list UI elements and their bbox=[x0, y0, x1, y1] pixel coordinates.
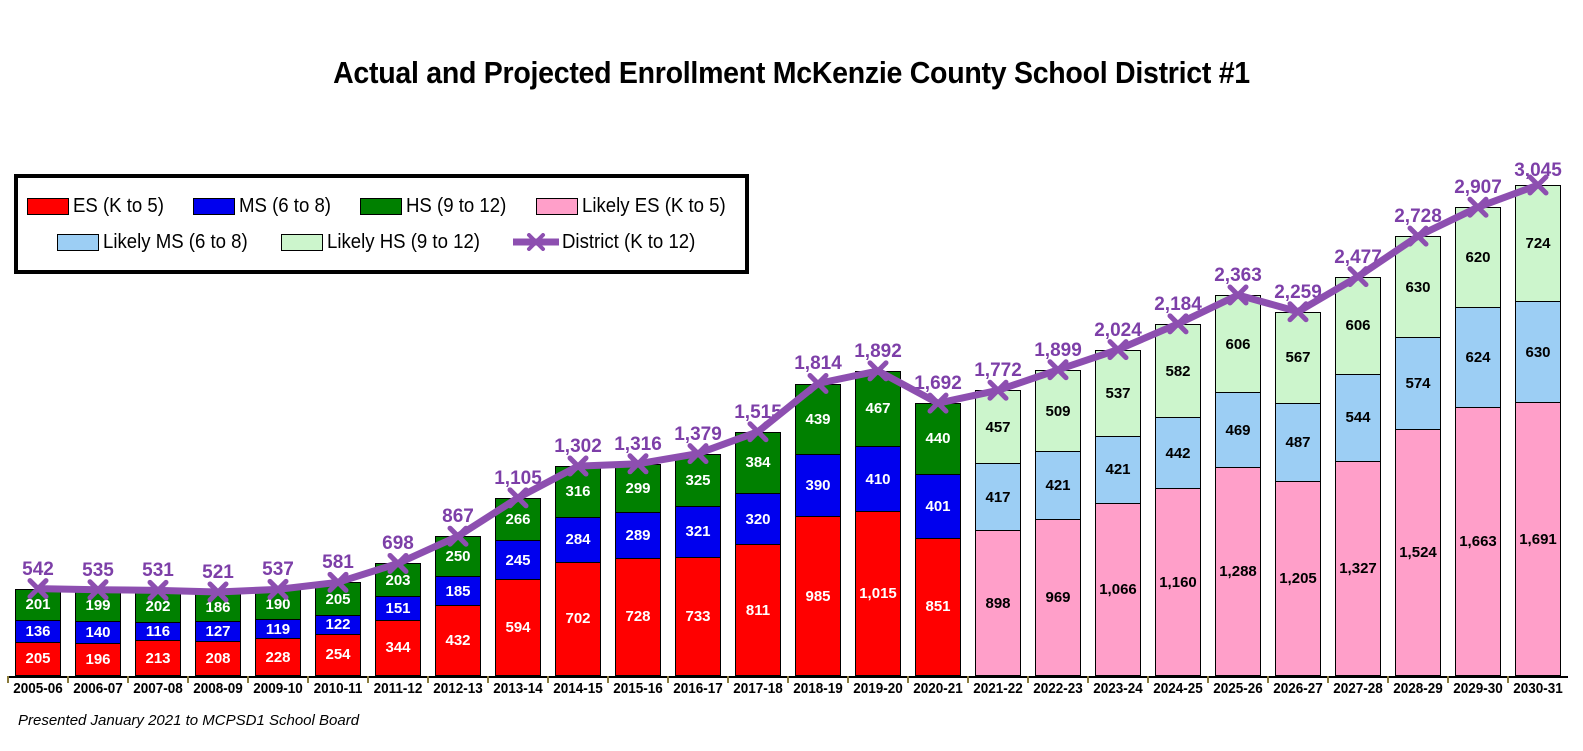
bar-slot: 1,8924674101,015 bbox=[848, 160, 908, 676]
legend-line-marker-icon bbox=[513, 233, 559, 251]
bar-segment-hs: 190 bbox=[256, 590, 300, 620]
legend-label-es: ES (K to 5) bbox=[73, 195, 164, 218]
stacked-bar[interactable]: 4674101,015 bbox=[855, 371, 901, 676]
bar-segment-hs: 205 bbox=[316, 583, 360, 615]
bar-segment-es: 851 bbox=[916, 539, 960, 675]
bar-total-label: 2,024 bbox=[1088, 320, 1148, 342]
x-axis-label: 2008-09 bbox=[190, 681, 246, 703]
bar-segment-hs: 440 bbox=[916, 404, 960, 474]
bar-segment-lms: 544 bbox=[1336, 375, 1380, 462]
x-axis-label: 2007-08 bbox=[130, 681, 186, 703]
bar-segment-lms: 421 bbox=[1096, 437, 1140, 504]
bar-slot: 1,692440401851 bbox=[908, 160, 968, 676]
bar-segment-ms: 390 bbox=[796, 455, 840, 517]
stacked-bar[interactable]: 299289728 bbox=[615, 464, 661, 676]
stacked-bar[interactable]: 5674871,205 bbox=[1275, 312, 1321, 676]
bar-segment-ms: 185 bbox=[436, 577, 480, 606]
bar-segment-hs: 439 bbox=[796, 385, 840, 455]
bar-segment-les: 1,066 bbox=[1096, 504, 1140, 675]
bar-segment-hs: 266 bbox=[496, 499, 540, 541]
bar-segment-hs: 186 bbox=[196, 593, 240, 622]
stacked-bar[interactable]: 7246301,691 bbox=[1515, 185, 1561, 676]
legend-label-hs: HS (9 to 12) bbox=[406, 195, 506, 218]
x-axis-label: 2024-25 bbox=[1150, 681, 1206, 703]
bar-total-label: 1,892 bbox=[848, 341, 908, 363]
bar-segment-lms: 442 bbox=[1156, 418, 1200, 489]
bar-segment-lhs: 620 bbox=[1456, 208, 1500, 308]
bar-segment-lhs: 606 bbox=[1216, 296, 1260, 393]
bar-total-label: 521 bbox=[188, 562, 248, 584]
bar-segment-es: 254 bbox=[316, 635, 360, 675]
x-axis-label: 2005-06 bbox=[10, 681, 66, 703]
bar-total-label: 3,045 bbox=[1508, 160, 1568, 182]
bar-segment-les: 969 bbox=[1036, 520, 1080, 675]
stacked-bar[interactable]: 316284702 bbox=[555, 466, 601, 676]
bar-total-label: 535 bbox=[68, 560, 128, 582]
bar-total-label: 537 bbox=[248, 559, 308, 581]
x-axis-label: 2028-29 bbox=[1390, 681, 1446, 703]
bar-segment-ms: 401 bbox=[916, 475, 960, 539]
x-axis-label: 2021-22 bbox=[970, 681, 1026, 703]
bar-segment-es: 344 bbox=[376, 621, 420, 675]
stacked-bar[interactable]: 6206241,663 bbox=[1455, 207, 1501, 676]
bar-slot: 2,0245374211,066 bbox=[1088, 160, 1148, 676]
stacked-bar[interactable]: 5374211,066 bbox=[1095, 350, 1141, 676]
bar-segment-es: 702 bbox=[556, 563, 600, 675]
bar-segment-ms: 136 bbox=[16, 621, 60, 642]
bar-segment-es: 728 bbox=[616, 559, 660, 675]
stacked-bar[interactable]: 6305741,524 bbox=[1395, 236, 1441, 676]
bar-total-label: 1,899 bbox=[1028, 340, 1088, 362]
bar-segment-lhs: 582 bbox=[1156, 325, 1200, 418]
stacked-bar[interactable]: 199140196 bbox=[75, 590, 121, 676]
bar-segment-les: 1,205 bbox=[1276, 482, 1320, 675]
bar-segment-es: 985 bbox=[796, 517, 840, 675]
x-axis-label: 2027-28 bbox=[1330, 681, 1386, 703]
bar-total-label: 2,184 bbox=[1148, 294, 1208, 316]
bar-total-label: 2,477 bbox=[1328, 247, 1388, 269]
bar-segment-hs: 199 bbox=[76, 591, 120, 622]
bar-segment-ms: 140 bbox=[76, 622, 120, 644]
bar-segment-lhs: 457 bbox=[976, 391, 1020, 464]
bar-segment-es: 811 bbox=[736, 545, 780, 675]
x-axis bbox=[8, 676, 1568, 677]
legend-label-district: District (K to 12) bbox=[562, 231, 695, 254]
x-axis-label: 2006-07 bbox=[70, 681, 126, 703]
bar-segment-ms: 119 bbox=[256, 620, 300, 639]
x-axis-label: 2019-20 bbox=[850, 681, 906, 703]
bar-segment-ms: 289 bbox=[616, 513, 660, 559]
legend-swatch-likely-ms-icon bbox=[57, 234, 99, 251]
bar-segment-les: 1,327 bbox=[1336, 462, 1380, 675]
bar-segment-lms: 417 bbox=[976, 464, 1020, 531]
bar-segment-ms: 116 bbox=[136, 623, 180, 641]
stacked-bar[interactable]: 201136205 bbox=[15, 589, 61, 676]
legend-item-es[interactable]: ES (K to 5) bbox=[27, 195, 171, 218]
bar-total-label: 1,772 bbox=[968, 360, 1028, 382]
bar-total-label: 1,302 bbox=[548, 436, 608, 458]
stacked-bar[interactable]: 440401851 bbox=[915, 403, 961, 676]
x-axis-labels: 2005-062006-072007-082008-092009-102010-… bbox=[8, 681, 1568, 703]
stacked-bar[interactable]: 384320811 bbox=[735, 432, 781, 676]
bar-segment-es: 733 bbox=[676, 558, 720, 675]
bar-segment-hs: 325 bbox=[676, 455, 720, 507]
bar-slot: 2,4776065441,327 bbox=[1328, 160, 1388, 676]
bar-segment-es: 208 bbox=[196, 642, 240, 675]
stacked-bar[interactable]: 202116213 bbox=[135, 590, 181, 676]
bar-total-label: 2,728 bbox=[1388, 206, 1448, 228]
x-axis-label: 2026-27 bbox=[1270, 681, 1326, 703]
x-axis-label: 2014-15 bbox=[550, 681, 606, 703]
bar-segment-les: 1,691 bbox=[1516, 403, 1560, 675]
stacked-bar[interactable]: 6064691,288 bbox=[1215, 295, 1261, 676]
bar-segment-lhs: 630 bbox=[1396, 237, 1440, 338]
bar-segment-lhs: 567 bbox=[1276, 313, 1320, 404]
legend-item-hs[interactable]: HS (9 to 12) bbox=[360, 195, 514, 218]
x-axis-label: 2016-17 bbox=[670, 681, 726, 703]
bar-segment-es: 213 bbox=[136, 641, 180, 675]
stacked-bar[interactable]: 6065441,327 bbox=[1335, 277, 1381, 676]
legend-item-likely-ms[interactable]: Likely MS (6 to 8) bbox=[57, 231, 259, 254]
bar-segment-les: 1,524 bbox=[1396, 430, 1440, 675]
bar-segment-hs: 299 bbox=[616, 465, 660, 513]
bar-segment-ms: 151 bbox=[376, 597, 420, 621]
bar-segment-hs: 384 bbox=[736, 433, 780, 494]
bar-segment-es: 205 bbox=[16, 643, 60, 675]
bar-segment-lhs: 724 bbox=[1516, 186, 1560, 302]
bar-slot: 1,899509421969 bbox=[1028, 160, 1088, 676]
bar-segment-lms: 487 bbox=[1276, 404, 1320, 482]
x-axis-label: 2017-18 bbox=[730, 681, 786, 703]
bar-segment-lms: 469 bbox=[1216, 393, 1260, 468]
stacked-bar[interactable]: 5824421,160 bbox=[1155, 324, 1201, 676]
bar-segment-lms: 630 bbox=[1516, 302, 1560, 403]
bar-segment-lms: 624 bbox=[1456, 308, 1500, 408]
bar-total-label: 1,105 bbox=[488, 468, 548, 490]
stacked-bar[interactable]: 203151344 bbox=[375, 563, 421, 676]
chart-page: Actual and Projected Enrollment McKenzie… bbox=[0, 0, 1583, 751]
bar-segment-ms: 410 bbox=[856, 447, 900, 513]
x-axis-label: 2009-10 bbox=[250, 681, 306, 703]
bar-segment-hs: 202 bbox=[136, 591, 180, 623]
bar-total-label: 1,515 bbox=[728, 402, 788, 424]
x-axis-label: 2030-31 bbox=[1510, 681, 1566, 703]
bar-segment-es: 228 bbox=[256, 639, 300, 675]
bar-total-label: 2,363 bbox=[1208, 265, 1268, 287]
legend-label-likely-es: Likely ES (K to 5) bbox=[582, 195, 726, 218]
x-axis-label: 2018-19 bbox=[790, 681, 846, 703]
bar-slot: 3,0457246301,691 bbox=[1508, 160, 1568, 676]
bar-segment-les: 1,663 bbox=[1456, 408, 1500, 675]
x-axis-label: 2022-23 bbox=[1030, 681, 1086, 703]
bar-total-label: 542 bbox=[8, 559, 68, 581]
bar-segment-lhs: 509 bbox=[1036, 371, 1080, 453]
chart-legend: ES (K to 5) MS (6 to 8) HS (9 to 12) Lik… bbox=[14, 174, 749, 274]
x-axis-label: 2013-14 bbox=[490, 681, 546, 703]
legend-item-likely-es[interactable]: Likely ES (K to 5) bbox=[536, 195, 737, 218]
bar-slot: 1,814439390985 bbox=[788, 160, 848, 676]
x-axis-label: 2011-12 bbox=[370, 681, 426, 703]
bar-segment-hs: 203 bbox=[376, 564, 420, 596]
x-axis-label: 2029-30 bbox=[1450, 681, 1506, 703]
stacked-bar[interactable]: 325321733 bbox=[675, 454, 721, 676]
x-axis-label: 2023-24 bbox=[1090, 681, 1146, 703]
bar-segment-ms: 122 bbox=[316, 616, 360, 635]
bar-segment-lms: 574 bbox=[1396, 338, 1440, 430]
bar-slot: 1,772457417898 bbox=[968, 160, 1028, 676]
bar-slot: 2,7286305741,524 bbox=[1388, 160, 1448, 676]
bar-total-label: 1,379 bbox=[668, 424, 728, 446]
x-axis-label: 2012-13 bbox=[430, 681, 486, 703]
bar-segment-hs: 467 bbox=[856, 372, 900, 447]
legend-swatch-es-icon bbox=[27, 198, 69, 215]
stacked-bar[interactable]: 439390985 bbox=[795, 384, 841, 677]
bar-segment-lhs: 537 bbox=[1096, 351, 1140, 437]
bar-segment-hs: 201 bbox=[16, 590, 60, 622]
bar-total-label: 581 bbox=[308, 552, 368, 574]
bar-segment-es: 594 bbox=[496, 580, 540, 675]
legend-item-ms[interactable]: MS (6 to 8) bbox=[193, 195, 338, 218]
footnote: Presented January 2021 to MCPSD1 School … bbox=[18, 712, 359, 729]
bar-total-label: 2,907 bbox=[1448, 177, 1508, 199]
stacked-bar[interactable]: 250185432 bbox=[435, 536, 481, 676]
stacked-bar[interactable]: 266245594 bbox=[495, 498, 541, 676]
bar-segment-lhs: 606 bbox=[1336, 278, 1380, 375]
x-axis-label: 2010-11 bbox=[310, 681, 366, 703]
bar-total-label: 867 bbox=[428, 506, 488, 528]
legend-row-2: Likely MS (6 to 8) Likely HS (9 to 12) bbox=[18, 224, 745, 260]
bar-slot: 2,2595674871,205 bbox=[1268, 160, 1328, 676]
bar-slot: 2,1845824421,160 bbox=[1148, 160, 1208, 676]
legend-item-likely-hs[interactable]: Likely HS (9 to 12) bbox=[281, 231, 492, 254]
bar-segment-ms: 320 bbox=[736, 494, 780, 545]
page-title: Actual and Projected Enrollment McKenzie… bbox=[63, 55, 1519, 91]
legend-label-likely-ms: Likely MS (6 to 8) bbox=[103, 231, 248, 254]
legend-label-ms: MS (6 to 8) bbox=[239, 195, 331, 218]
bar-segment-es: 432 bbox=[436, 606, 480, 675]
bar-segment-hs: 316 bbox=[556, 467, 600, 517]
legend-item-district[interactable]: District (K to 12) bbox=[513, 231, 705, 254]
bar-total-label: 698 bbox=[368, 533, 428, 555]
stacked-bar[interactable]: 509421969 bbox=[1035, 370, 1081, 676]
bar-segment-ms: 321 bbox=[676, 507, 720, 558]
legend-label-likely-hs: Likely HS (9 to 12) bbox=[327, 231, 480, 254]
bar-segment-les: 1,160 bbox=[1156, 489, 1200, 675]
x-axis-label: 2025-26 bbox=[1210, 681, 1266, 703]
bar-segment-es: 196 bbox=[76, 644, 120, 675]
bar-slot: 2,3636064691,288 bbox=[1208, 160, 1268, 676]
legend-swatch-hs-icon bbox=[360, 198, 402, 215]
bar-segment-es: 1,015 bbox=[856, 512, 900, 675]
stacked-bar[interactable]: 457417898 bbox=[975, 390, 1021, 676]
stacked-bar[interactable]: 186127208 bbox=[195, 592, 241, 676]
legend-swatch-likely-es-icon bbox=[536, 198, 578, 215]
bar-segment-hs: 250 bbox=[436, 537, 480, 577]
legend-swatch-likely-hs-icon bbox=[281, 234, 323, 251]
x-axis-label: 2015-16 bbox=[610, 681, 666, 703]
stacked-bar[interactable]: 205122254 bbox=[315, 582, 361, 676]
bar-slot: 2,9076206241,663 bbox=[1448, 160, 1508, 676]
bar-segment-ms: 245 bbox=[496, 541, 540, 580]
bar-segment-les: 898 bbox=[976, 531, 1020, 675]
bar-segment-ms: 284 bbox=[556, 518, 600, 563]
bar-total-label: 2,259 bbox=[1268, 282, 1328, 304]
bar-total-label: 1,692 bbox=[908, 373, 968, 395]
x-axis-label: 2020-21 bbox=[910, 681, 966, 703]
stacked-bar[interactable]: 190119228 bbox=[255, 589, 301, 676]
legend-row-1: ES (K to 5) MS (6 to 8) HS (9 to 12) Lik… bbox=[18, 188, 745, 224]
bar-segment-ms: 127 bbox=[196, 622, 240, 642]
bar-total-label: 1,316 bbox=[608, 434, 668, 456]
bar-segment-lms: 421 bbox=[1036, 452, 1080, 519]
bar-total-label: 531 bbox=[128, 560, 188, 582]
legend-swatch-ms-icon bbox=[193, 198, 235, 215]
bar-total-label: 1,814 bbox=[788, 353, 848, 375]
bar-segment-les: 1,288 bbox=[1216, 468, 1260, 675]
